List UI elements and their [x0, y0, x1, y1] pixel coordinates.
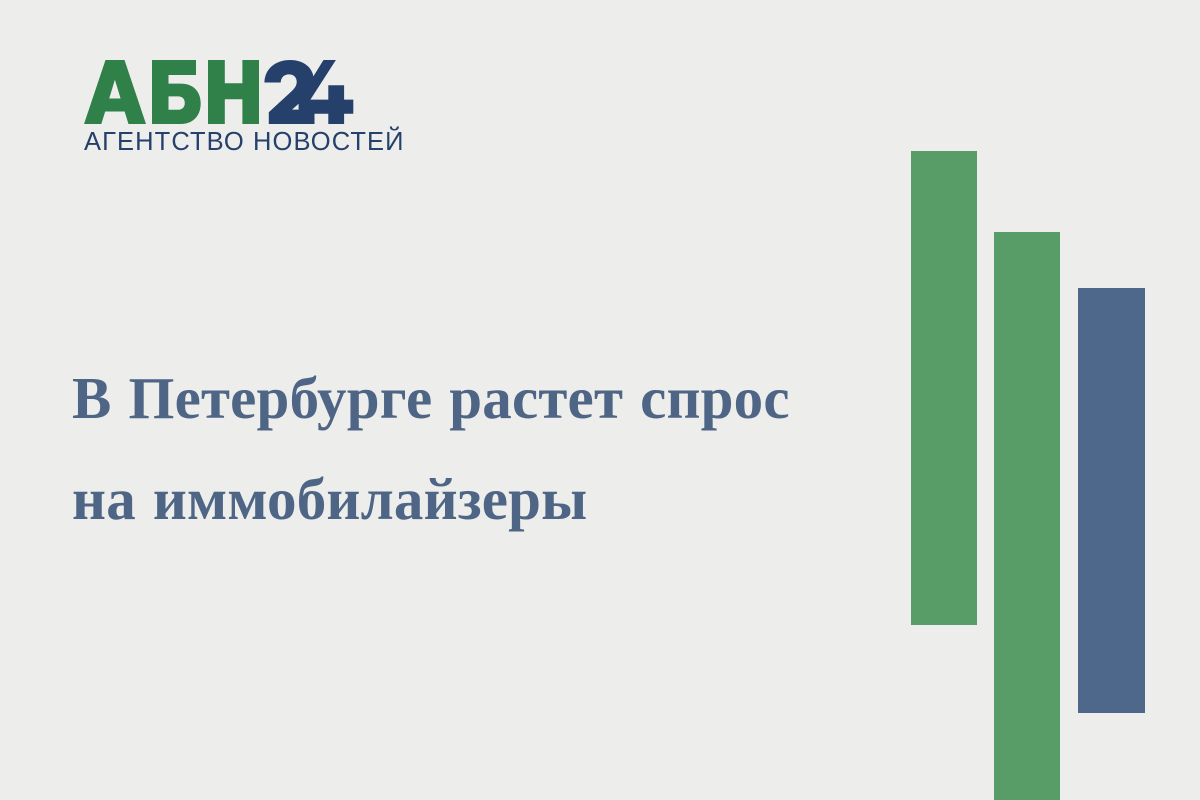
news-card: АГЕНТСТВО НОВОСТЕЙ В Петербурге растет с…	[0, 0, 1200, 800]
abn24-wordmark-icon	[84, 60, 356, 124]
logo-tagline: АГЕНТСТВО НОВОСТЕЙ	[84, 130, 374, 156]
decoration-bar-3	[1078, 288, 1145, 713]
page-title: В Петербурге растет спрос на иммобилайзе…	[72, 348, 862, 551]
decoration-bar-1	[911, 151, 977, 625]
decoration-bar-2	[994, 232, 1060, 800]
logo[interactable]: АГЕНТСТВО НОВОСТЕЙ	[84, 60, 374, 156]
